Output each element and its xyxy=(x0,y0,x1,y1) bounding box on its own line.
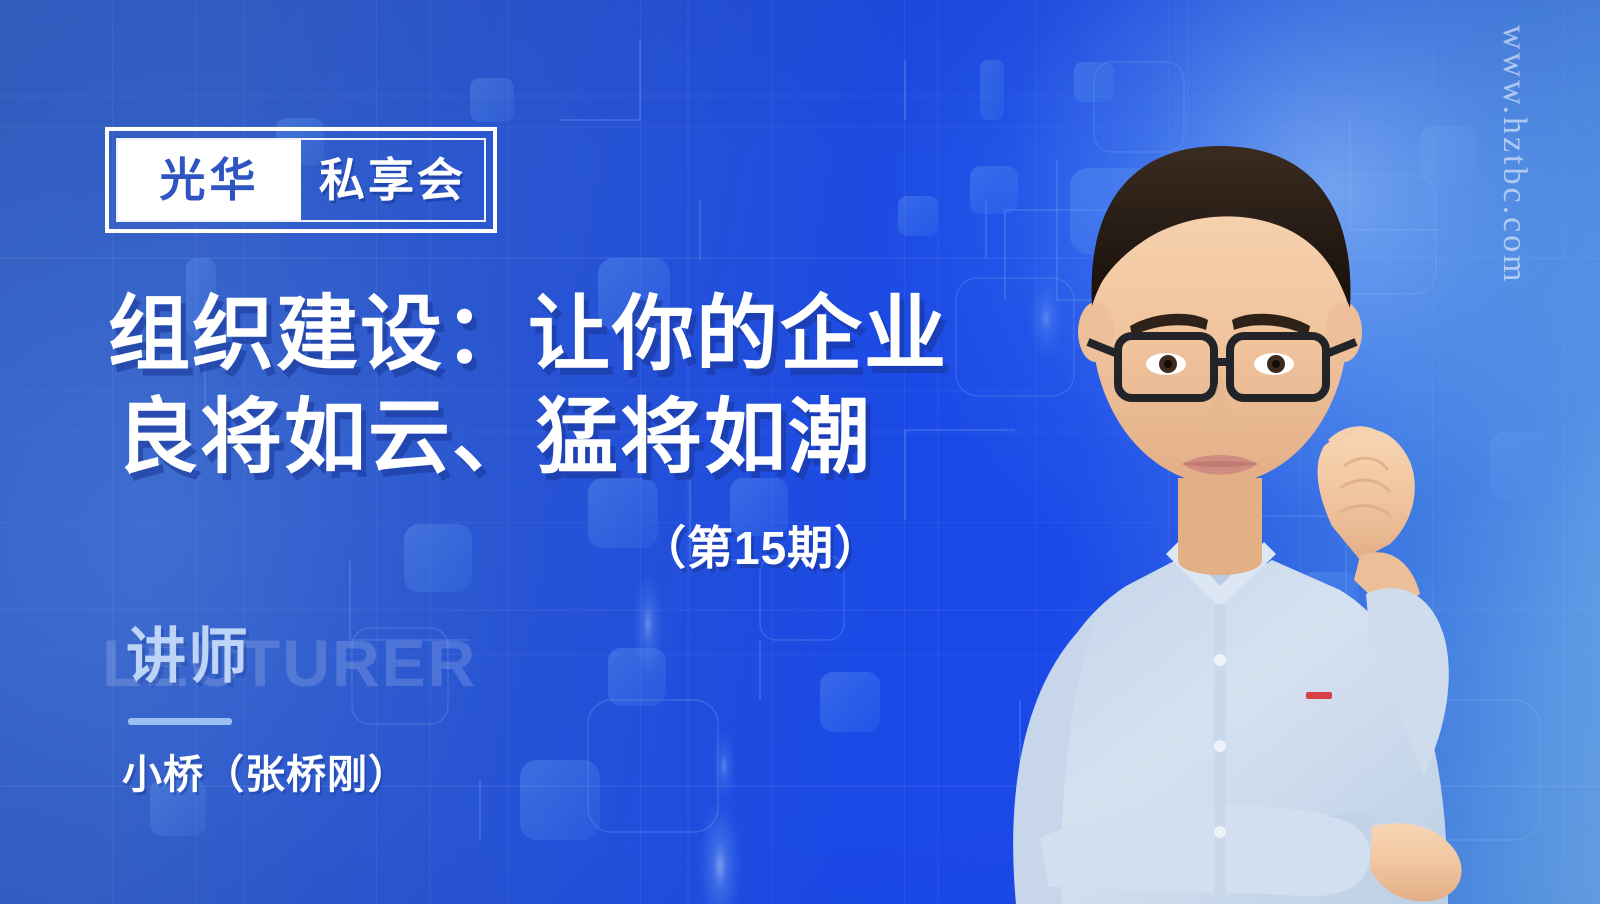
lecturer-block: LECTURER 讲师 小桥（张桥刚） xyxy=(96,614,616,814)
headline-line-2: 良将如云、猛将如潮 xyxy=(116,386,1008,489)
headline-block: 组织建设：让你的企业 良将如云、猛将如潮 xyxy=(108,283,1008,490)
brand-logo: 光华 私享会 xyxy=(105,127,497,233)
issue-number: （第15期） xyxy=(640,512,881,578)
brand-logo-left-text: 光华 xyxy=(118,140,301,220)
brand-logo-right-text: 私享会 xyxy=(301,140,484,220)
headline-line-1: 组织建设：让你的企业 xyxy=(108,283,1008,386)
lecturer-label-cn: 讲师 xyxy=(126,627,250,687)
site-watermark: www.hztbc.com xyxy=(1495,25,1533,385)
promo-poster: 光华 私享会 组织建设：让你的企业 良将如云、猛将如潮 （第15期） LECTU… xyxy=(0,0,1600,904)
brand-logo-inner: 光华 私享会 xyxy=(116,138,486,222)
lecturer-underline xyxy=(128,718,232,725)
lecturer-name: 小桥（张桥刚） xyxy=(122,742,409,800)
